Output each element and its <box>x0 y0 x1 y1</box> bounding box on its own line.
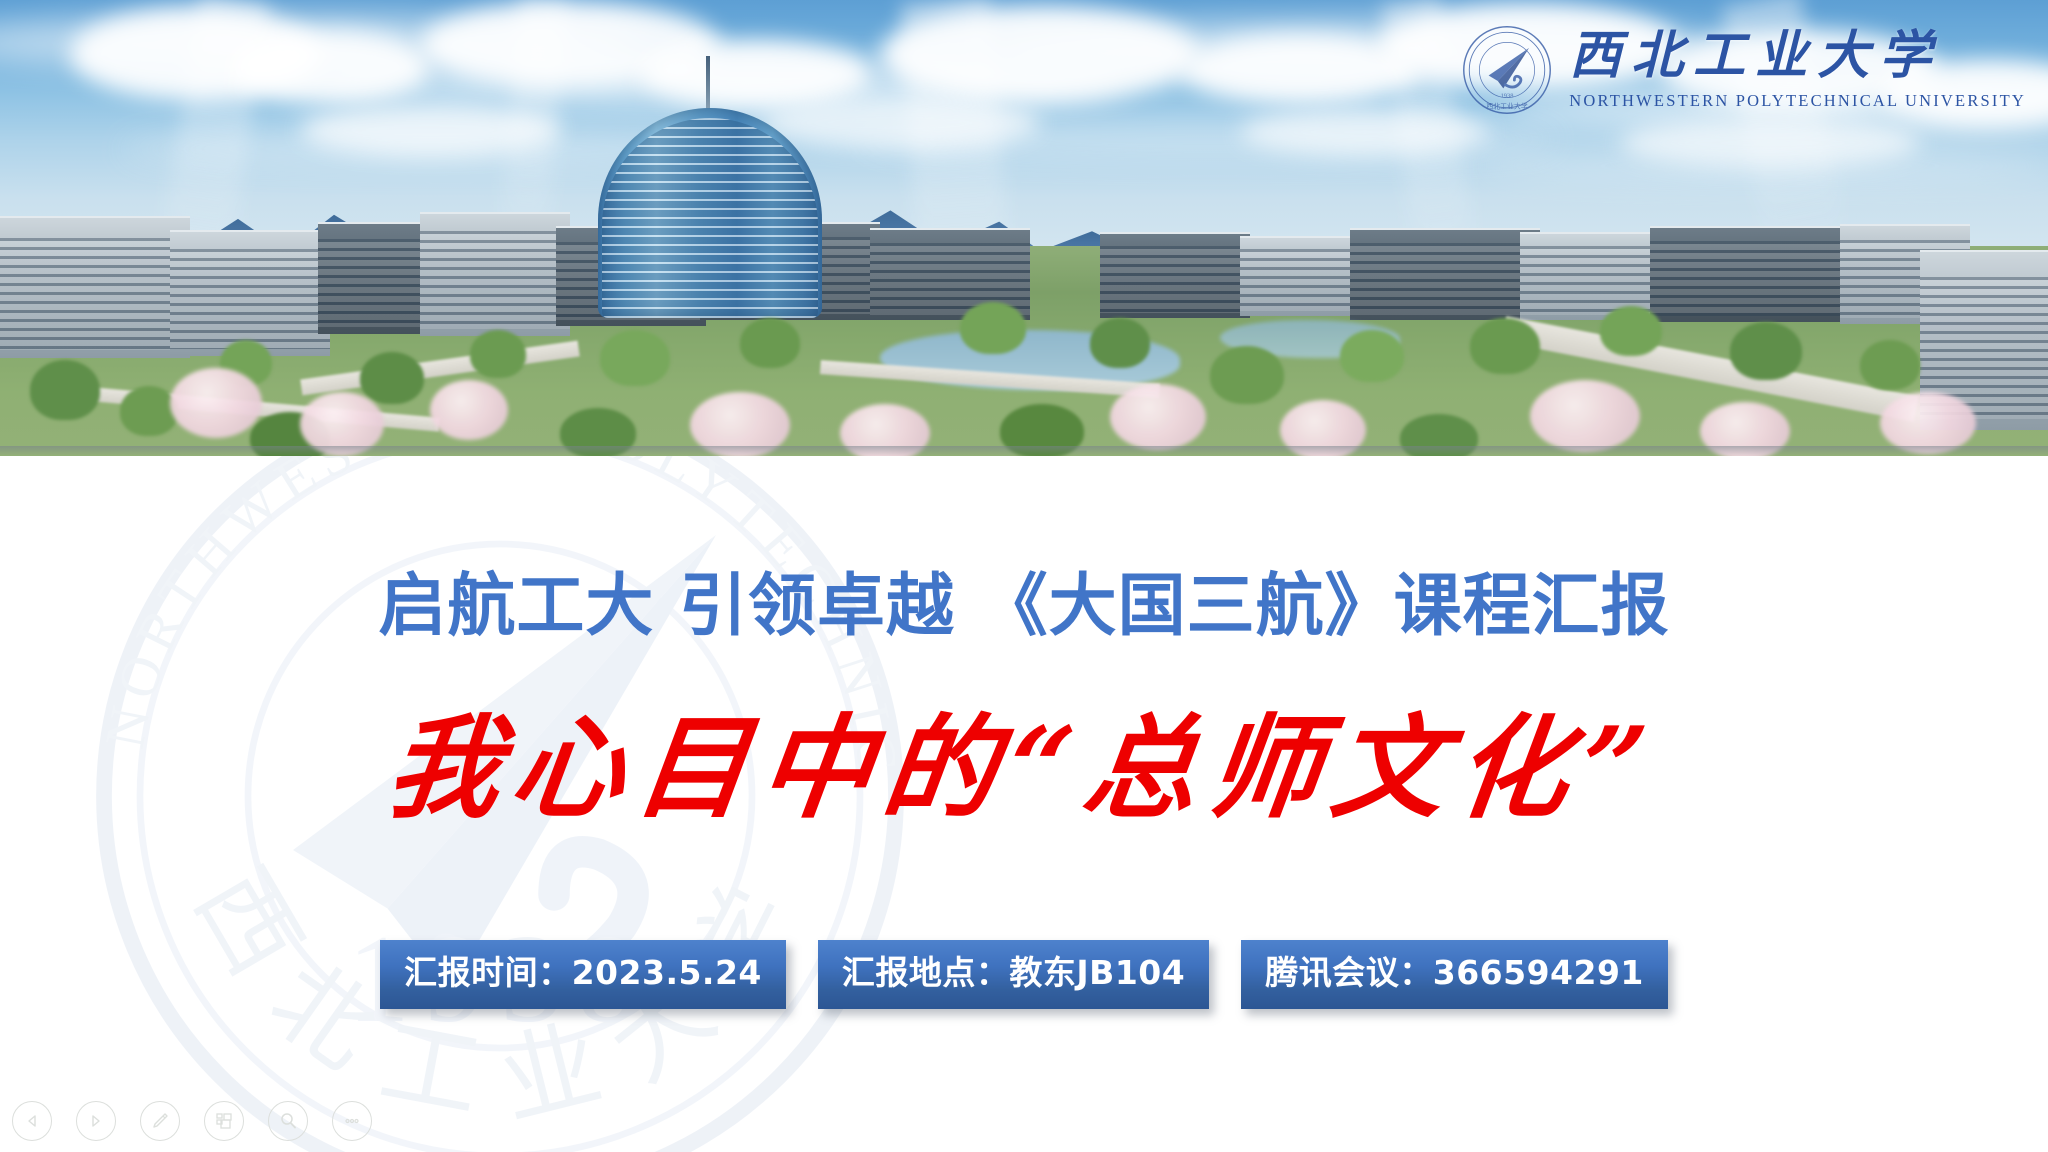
campus-building <box>420 212 570 336</box>
cloud <box>230 30 430 104</box>
zoom-button[interactable] <box>268 1101 308 1141</box>
info-box-row: 汇报时间：2023.5.24 汇报地点：教东JB104 腾讯会议：3665942… <box>0 940 2048 1009</box>
tree <box>600 330 670 386</box>
more-options-button[interactable] <box>332 1101 372 1141</box>
tencent-meeting-box: 腾讯会议：366594291 <box>1241 940 1668 1009</box>
university-logo: 1938 西北工业大学 西北工业大学 NORTHWESTERN POLYTECH… <box>1461 24 2026 116</box>
slides-grid-icon <box>214 1111 234 1131</box>
magnifier-icon <box>278 1111 298 1131</box>
report-time-box: 汇报时间：2023.5.24 <box>380 940 786 1009</box>
campus-banner-image: 1938 西北工业大学 西北工业大学 NORTHWESTERN POLYTECH… <box>0 0 2048 456</box>
cloud <box>1240 108 1490 156</box>
cherry-blossom-tree <box>1880 392 1976 454</box>
tree <box>470 330 526 378</box>
tree <box>1090 318 1150 368</box>
cloud <box>880 6 1200 102</box>
campus-building <box>1240 236 1360 316</box>
tree <box>120 386 178 436</box>
cherry-blossom-tree <box>430 380 508 440</box>
campus-building <box>170 230 330 356</box>
campus-building <box>1350 228 1540 320</box>
logo-chinese-name: 西北工业大学 <box>1569 30 1941 82</box>
report-location-box: 汇报地点：教东JB104 <box>818 940 1209 1009</box>
page-title: 启航工大 引领卓越 《大国三航》课程汇报 <box>0 550 2048 649</box>
cloud <box>640 40 870 108</box>
cherry-blossom-tree <box>1530 380 1640 452</box>
presentation-slide: 1938 西北工业大学 西北工业大学 NORTHWESTERN POLYTECH… <box>0 0 2048 1152</box>
tree <box>30 360 100 420</box>
cloud <box>760 96 1040 150</box>
next-slide-button[interactable] <box>76 1101 116 1141</box>
logo-english-name: NORTHWESTERN POLYTECHNICAL UNIVERSITY <box>1569 91 2026 111</box>
tree <box>1600 306 1662 356</box>
tree <box>960 302 1026 354</box>
slide-body: NORTHWESTERN POLYTECHNICAL UNIVERSITY 19… <box>0 456 2048 1152</box>
tree <box>1860 340 1920 390</box>
cherry-blossom-tree <box>170 368 262 438</box>
logo-wordmark: 西北工业大学 NORTHWESTERN POLYTECHNICAL UNIVER… <box>1569 30 2026 111</box>
triangle-right-icon <box>88 1113 104 1129</box>
slideshow-toolbar <box>0 1090 2048 1152</box>
triangle-left-icon <box>24 1113 40 1129</box>
banner-bottom-shadow <box>0 446 2048 456</box>
page-subtitle: 我心目中的“总师文化” <box>0 678 2048 840</box>
pen-icon <box>150 1111 170 1131</box>
campus-building <box>1100 232 1250 318</box>
tree <box>1730 322 1802 380</box>
nwpu-seal-icon: 1938 西北工业大学 <box>1461 24 1553 116</box>
svg-text:西北工业大学: 西北工业大学 <box>1487 102 1528 111</box>
cloud <box>300 104 560 156</box>
campus-building <box>0 216 190 358</box>
landmark-cylindrical-tower <box>598 108 822 318</box>
tree <box>1210 346 1284 404</box>
tree <box>1470 318 1540 374</box>
tree <box>740 318 800 368</box>
tree <box>360 352 424 404</box>
tree <box>1340 330 1404 382</box>
ellipsis-icon <box>342 1111 362 1131</box>
svg-text:1938: 1938 <box>1501 93 1514 100</box>
cloud <box>1620 118 1920 168</box>
pen-annotate-button[interactable] <box>140 1101 180 1141</box>
slide-overview-button[interactable] <box>204 1101 244 1141</box>
previous-slide-button[interactable] <box>12 1101 52 1141</box>
cherry-blossom-tree <box>1110 384 1206 450</box>
campus-building <box>1650 226 1850 322</box>
